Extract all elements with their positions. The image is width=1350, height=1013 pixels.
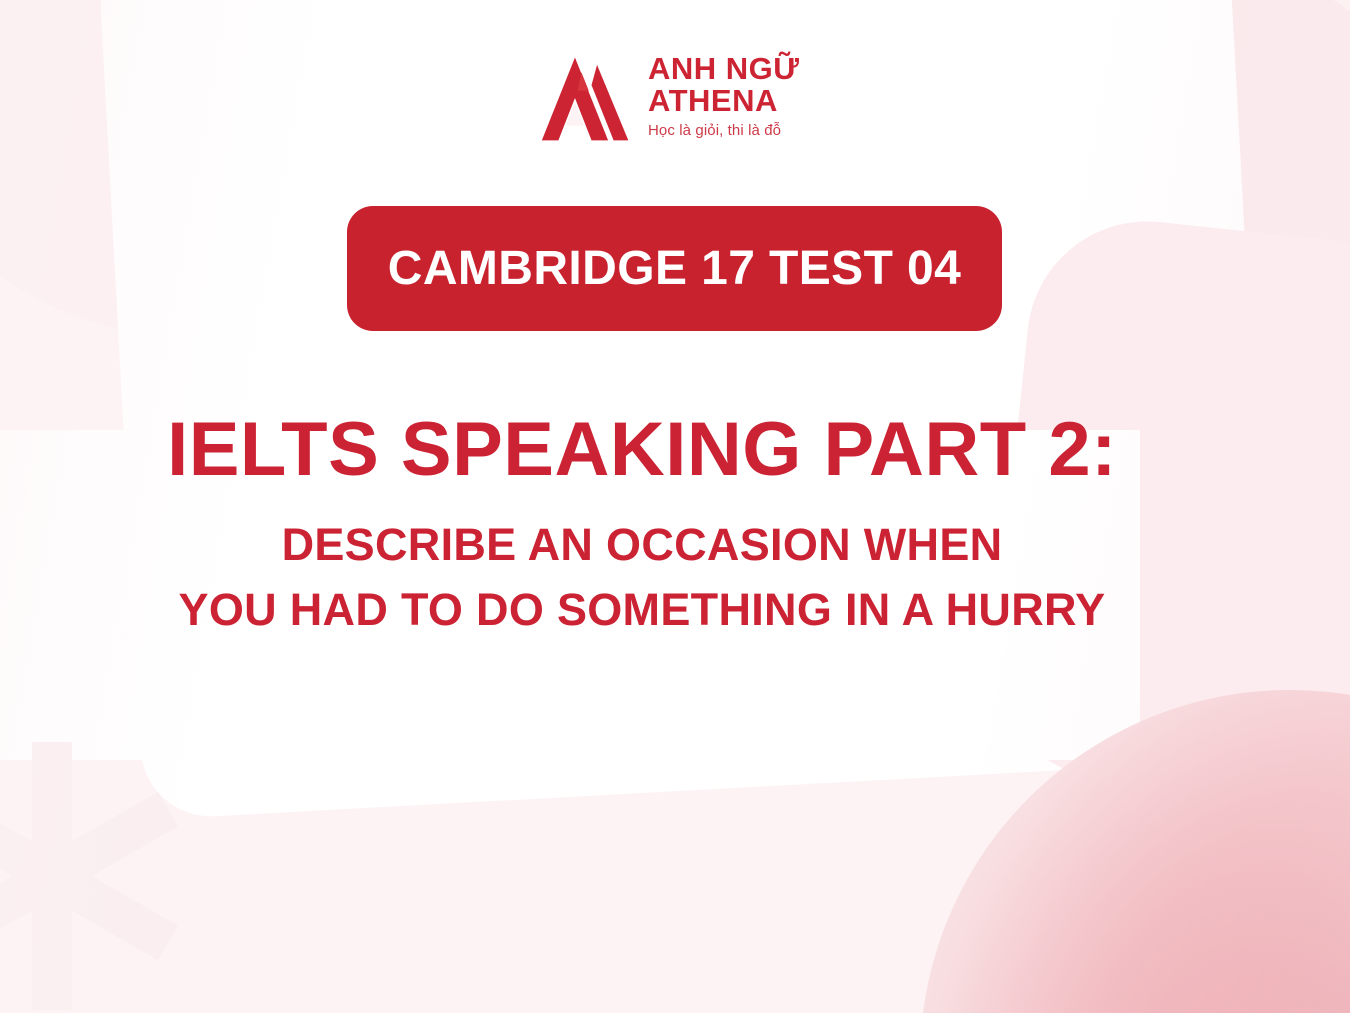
brand-tagline: Học là giỏi, thi là đỗ bbox=[648, 122, 800, 139]
brand-wordmark: ANH NGỮ ATHENA Học là giỏi, thi là đỗ bbox=[648, 52, 800, 139]
test-badge: CAMBRIDGE 17 TEST 04 bbox=[347, 206, 1002, 331]
page-title: IELTS SPEAKING PART 2: bbox=[0, 410, 1350, 489]
headline-block: IELTS SPEAKING PART 2: DESCRIBE AN OCCAS… bbox=[0, 410, 1350, 643]
poster-content: ANH NGỮ ATHENA Học là giỏi, thi là đỗ CA… bbox=[0, 0, 1350, 1013]
page-subtitle: DESCRIBE AN OCCASION WHEN YOU HAD TO DO … bbox=[0, 513, 1350, 643]
poster-canvas: ANH NGỮ ATHENA Học là giỏi, thi là đỗ CA… bbox=[0, 0, 1350, 1013]
athena-a-monogram-icon bbox=[540, 52, 632, 144]
brand-logo-lockup: ANH NGỮ ATHENA Học là giỏi, thi là đỗ bbox=[540, 52, 800, 144]
test-badge-label: CAMBRIDGE 17 TEST 04 bbox=[388, 241, 961, 296]
page-subtitle-line-2: YOU HAD TO DO SOMETHING IN A HURRY bbox=[0, 578, 1284, 643]
brand-name-line-2: ATHENA bbox=[648, 85, 800, 117]
page-subtitle-line-1: DESCRIBE AN OCCASION WHEN bbox=[0, 513, 1284, 578]
brand-name-line-1: ANH NGỮ bbox=[648, 53, 800, 85]
